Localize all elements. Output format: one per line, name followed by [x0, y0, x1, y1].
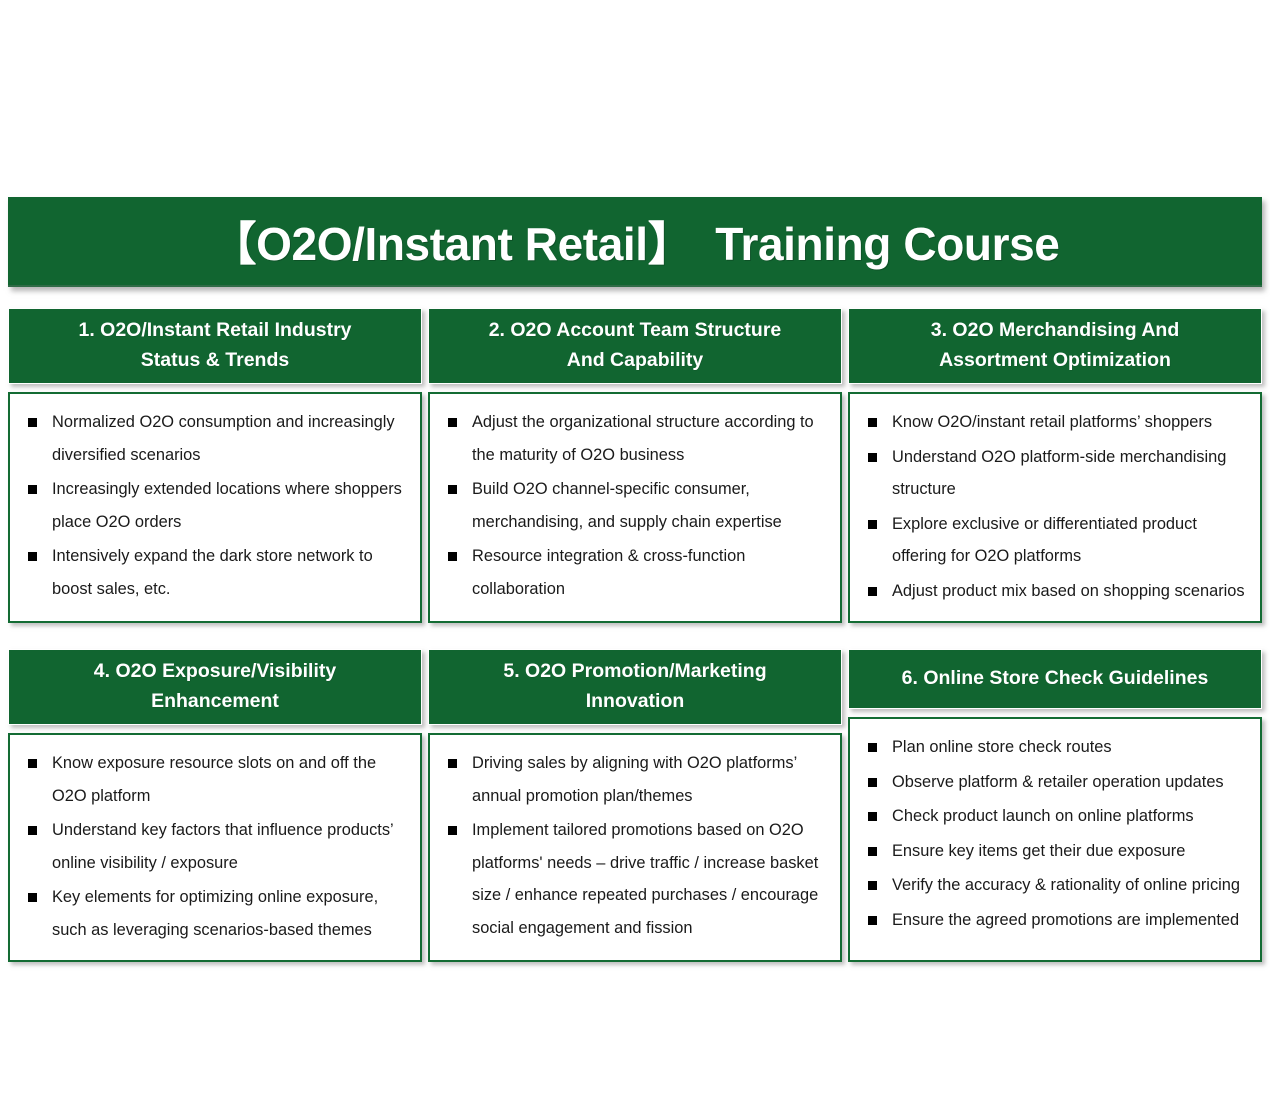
list-item: Key elements for optimizing online expos… [22, 881, 410, 946]
topic-card-4-bullet-list: Know exposure resource slots on and off … [22, 747, 410, 946]
topic-card-2-header: 2. O2O Account Team Structure And Capabi… [428, 308, 842, 384]
topic-card-4-header-line1: 4. O2O Exposure/Visibility [94, 660, 336, 682]
topic-card-4[interactable]: 4. O2O Exposure/Visibility Enhancement K… [8, 649, 422, 962]
list-item: Build O2O channel-specific consumer, mer… [442, 473, 830, 538]
square-bullet-icon [868, 418, 877, 427]
topic-card-2[interactable]: 2. O2O Account Team Structure And Capabi… [428, 308, 842, 623]
topic-card-1-header: 1. O2O/Instant Retail Industry Status & … [8, 308, 422, 384]
topic-card-5[interactable]: 5. O2O Promotion/Marketing Innovation Dr… [428, 649, 842, 962]
topic-card-5-body: Driving sales by aligning with O2O platf… [428, 733, 842, 962]
topic-card-1-header-line1: 1. O2O/Instant Retail Industry [78, 319, 351, 341]
list-item-text: Resource integration & cross-function co… [472, 547, 745, 597]
square-bullet-icon [868, 847, 877, 856]
list-item-text: Adjust product mix based on shopping sce… [892, 582, 1245, 600]
list-item-text: Explore exclusive or differentiated prod… [892, 515, 1197, 565]
topic-card-4-header: 4. O2O Exposure/Visibility Enhancement [8, 649, 422, 725]
topic-card-3-bullet-list: Know O2O/instant retail platforms’ shopp… [862, 406, 1250, 607]
title-bracket-open: 【 [211, 217, 257, 271]
list-item-text: Ensure the agreed promotions are impleme… [892, 911, 1239, 929]
topic-card-6-header: 6. Online Store Check Guidelines [848, 649, 1262, 709]
square-bullet-icon [28, 826, 37, 835]
topic-card-5-header-line1: 5. O2O Promotion/Marketing [503, 660, 766, 682]
list-item: Intensively expand the dark store networ… [22, 540, 410, 605]
topic-card-2-header-line1: 2. O2O Account Team Structure [489, 319, 782, 341]
square-bullet-icon [868, 812, 877, 821]
square-bullet-icon [28, 759, 37, 768]
square-bullet-icon [868, 520, 877, 529]
list-item: Know O2O/instant retail platforms’ shopp… [862, 406, 1250, 438]
topic-card-2-bullet-list: Adjust the organizational structure acco… [442, 406, 830, 605]
square-bullet-icon [448, 418, 457, 427]
title-main: O2O/Instant Retail [256, 218, 648, 270]
list-item: Resource integration & cross-function co… [442, 540, 830, 605]
topic-card-1-header-line2: Status & Trends [141, 349, 289, 371]
topic-card-3-header: 3. O2O Merchandising And Assortment Opti… [848, 308, 1262, 384]
list-item-text: Implement tailored promotions based on O… [472, 821, 818, 936]
list-item-text: Understand key factors that influence pr… [52, 821, 393, 871]
topic-card-6-body: Plan online store check routes Observe p… [848, 717, 1262, 962]
square-bullet-icon [448, 552, 457, 561]
list-item: Ensure key items get their due exposure [862, 835, 1250, 867]
list-item: Adjust the organizational structure acco… [442, 406, 830, 471]
square-bullet-icon [28, 418, 37, 427]
slide-canvas: 【O2O/Instant Retail】Training Course 1. O… [0, 0, 1270, 1103]
list-item: Explore exclusive or differentiated prod… [862, 508, 1250, 573]
topic-card-1-body: Normalized O2O consumption and increasin… [8, 392, 422, 623]
square-bullet-icon [448, 826, 457, 835]
topic-card-2-body: Adjust the organizational structure acco… [428, 392, 842, 623]
topic-card-2-header-line2: And Capability [567, 349, 704, 371]
list-item-text: Know exposure resource slots on and off … [52, 754, 376, 804]
square-bullet-icon [868, 881, 877, 890]
list-item-text: Intensively expand the dark store networ… [52, 547, 373, 597]
list-item-text: Adjust the organizational structure acco… [472, 413, 814, 463]
list-item-text: Check product launch on online platforms [892, 807, 1194, 825]
topic-card-1-bullet-list: Normalized O2O consumption and increasin… [22, 406, 410, 605]
topic-card-6[interactable]: 6. Online Store Check Guidelines Plan on… [848, 649, 1262, 962]
square-bullet-icon [868, 587, 877, 596]
topic-card-3-body: Know O2O/instant retail platforms’ shopp… [848, 392, 1262, 623]
topic-card-6-header-line1: 6. Online Store Check Guidelines [902, 664, 1209, 694]
topic-card-grid: 1. O2O/Instant Retail Industry Status & … [8, 308, 1262, 962]
list-item-text: Observe platform & retailer operation up… [892, 773, 1224, 791]
square-bullet-icon [868, 453, 877, 462]
topic-card-3-header-line2: Assortment Optimization [939, 349, 1171, 371]
list-item: Ensure the agreed promotions are impleme… [862, 904, 1250, 936]
square-bullet-icon [448, 485, 457, 494]
topic-card-5-bullet-list: Driving sales by aligning with O2O platf… [442, 747, 830, 944]
list-item: Plan online store check routes [862, 731, 1250, 763]
topic-card-6-bullet-list: Plan online store check routes Observe p… [862, 731, 1250, 936]
list-item-text: Know O2O/instant retail platforms’ shopp… [892, 413, 1212, 431]
list-item-text: Normalized O2O consumption and increasin… [52, 413, 395, 463]
list-item: Understand key factors that influence pr… [22, 814, 410, 879]
square-bullet-icon [28, 893, 37, 902]
topic-card-3[interactable]: 3. O2O Merchandising And Assortment Opti… [848, 308, 1262, 623]
square-bullet-icon [868, 743, 877, 752]
square-bullet-icon [868, 916, 877, 925]
topic-card-5-header-line2: Innovation [586, 690, 685, 712]
list-item-text: Driving sales by aligning with O2O platf… [472, 754, 797, 804]
list-item-text: Understand O2O platform-side merchandisi… [892, 448, 1226, 498]
title-banner: 【O2O/Instant Retail】Training Course [8, 197, 1262, 287]
topic-card-1[interactable]: 1. O2O/Instant Retail Industry Status & … [8, 308, 422, 623]
topic-card-4-header-line2: Enhancement [151, 690, 279, 712]
list-item-text: Key elements for optimizing online expos… [52, 888, 378, 938]
title-bracket-close: 】 [648, 217, 694, 271]
topic-card-5-header: 5. O2O Promotion/Marketing Innovation [428, 649, 842, 725]
list-item-text: Ensure key items get their due exposure [892, 842, 1185, 860]
list-item-text: Increasingly extended locations where sh… [52, 480, 402, 530]
square-bullet-icon [868, 778, 877, 787]
list-item: Observe platform & retailer operation up… [862, 766, 1250, 798]
list-item: Understand O2O platform-side merchandisi… [862, 441, 1250, 506]
list-item: Normalized O2O consumption and increasin… [22, 406, 410, 471]
topic-card-3-header-line1: 3. O2O Merchandising And [931, 319, 1179, 341]
list-item: Check product launch on online platforms [862, 800, 1250, 832]
topic-card-4-body: Know exposure resource slots on and off … [8, 733, 422, 962]
list-item: Driving sales by aligning with O2O platf… [442, 747, 830, 812]
square-bullet-icon [28, 485, 37, 494]
list-item: Adjust product mix based on shopping sce… [862, 575, 1250, 607]
page-title: 【O2O/Instant Retail】Training Course [211, 208, 1060, 274]
square-bullet-icon [448, 759, 457, 768]
title-suffix: Training Course [715, 218, 1059, 270]
list-item: Know exposure resource slots on and off … [22, 747, 410, 812]
list-item: Verify the accuracy & rationality of onl… [862, 869, 1250, 901]
list-item-text: Plan online store check routes [892, 738, 1112, 756]
list-item-text: Verify the accuracy & rationality of onl… [892, 876, 1240, 894]
list-item: Increasingly extended locations where sh… [22, 473, 410, 538]
list-item-text: Build O2O channel-specific consumer, mer… [472, 480, 782, 530]
list-item: Implement tailored promotions based on O… [442, 814, 830, 944]
square-bullet-icon [28, 552, 37, 561]
